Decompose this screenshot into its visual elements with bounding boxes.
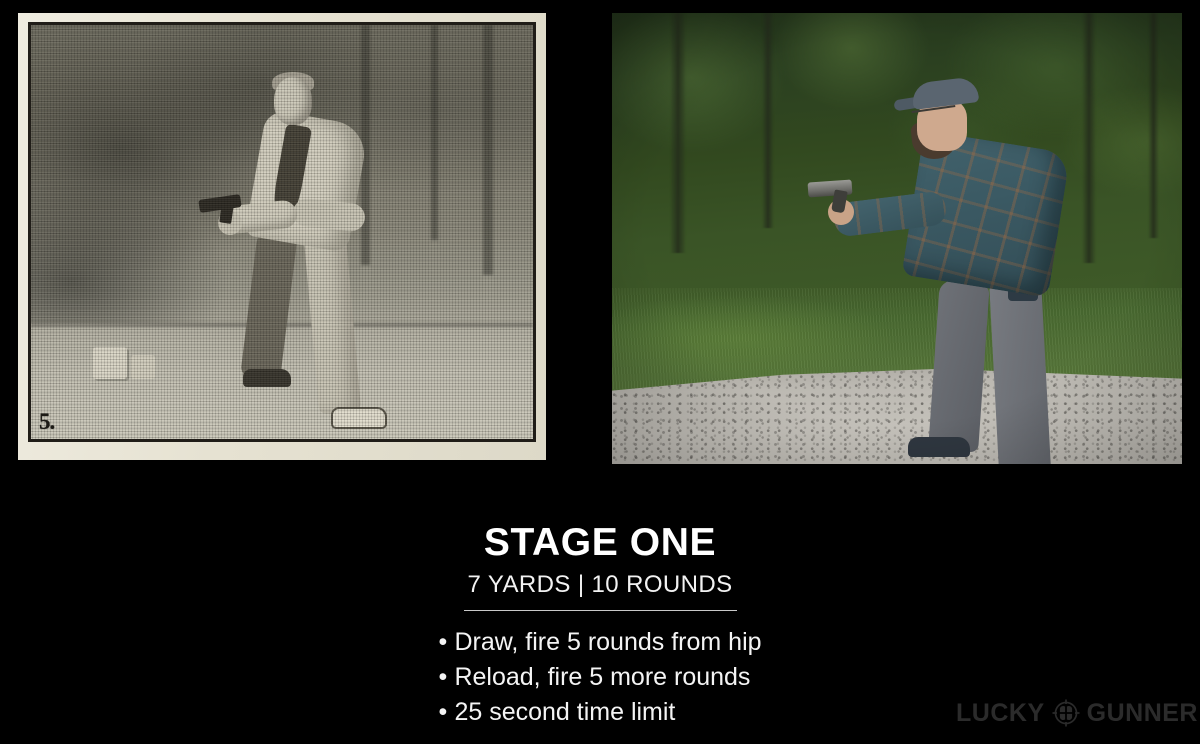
modern-forest-background — [612, 13, 1182, 306]
vintage-tree-trunk — [431, 25, 438, 240]
modern-photo — [612, 13, 1182, 464]
list-item: •25 second time limit — [438, 695, 761, 730]
vintage-tree-trunk — [483, 25, 493, 275]
list-item-label: Draw, fire 5 rounds from hip — [454, 628, 761, 656]
vintage-photo-frame: 5. — [28, 22, 536, 442]
logo-word-lucky: LUCKY — [956, 701, 1045, 726]
modern-shooter-back-shoe — [908, 437, 970, 457]
modern-revolver — [808, 179, 853, 197]
bullet-marker-icon: • — [438, 695, 454, 730]
modern-tree-trunk — [762, 13, 774, 228]
page-title: STAGE ONE — [0, 505, 1200, 562]
list-item: •Reload, fire 5 more rounds — [438, 660, 761, 695]
modern-tree-trunk — [670, 13, 686, 253]
vintage-target-can — [131, 355, 155, 379]
bullet-marker-icon: • — [438, 660, 454, 695]
logo-word-gunner: GUNNER — [1087, 701, 1198, 726]
bullet-marker-icon: • — [438, 625, 454, 660]
stage-subtitle: 7 YARDS | 10 ROUNDS — [0, 562, 1200, 597]
vintage-photo: 5. — [18, 13, 546, 460]
modern-shooter-front-leg — [989, 274, 1051, 464]
stage-instruction-list: •Draw, fire 5 rounds from hip •Reload, f… — [438, 625, 761, 730]
vintage-shooter-front-shoe — [331, 407, 387, 429]
vintage-photo-number: 5. — [39, 410, 54, 433]
lucky-gunner-logo: LUCKY GUNNER — [968, 694, 1186, 732]
vintage-shooter-head — [274, 77, 312, 125]
list-item-label: Reload, fire 5 more rounds — [454, 663, 750, 691]
vintage-shooter-back-shoe — [243, 369, 291, 387]
subtitle-divider — [464, 610, 737, 611]
reticle-icon — [1052, 699, 1080, 727]
list-item: •Draw, fire 5 rounds from hip — [438, 625, 761, 660]
vintage-target-can — [93, 347, 127, 379]
modern-tree-trunk — [1148, 13, 1159, 238]
list-item-label: 25 second time limit — [454, 698, 675, 726]
modern-tree-trunk — [1082, 13, 1096, 263]
